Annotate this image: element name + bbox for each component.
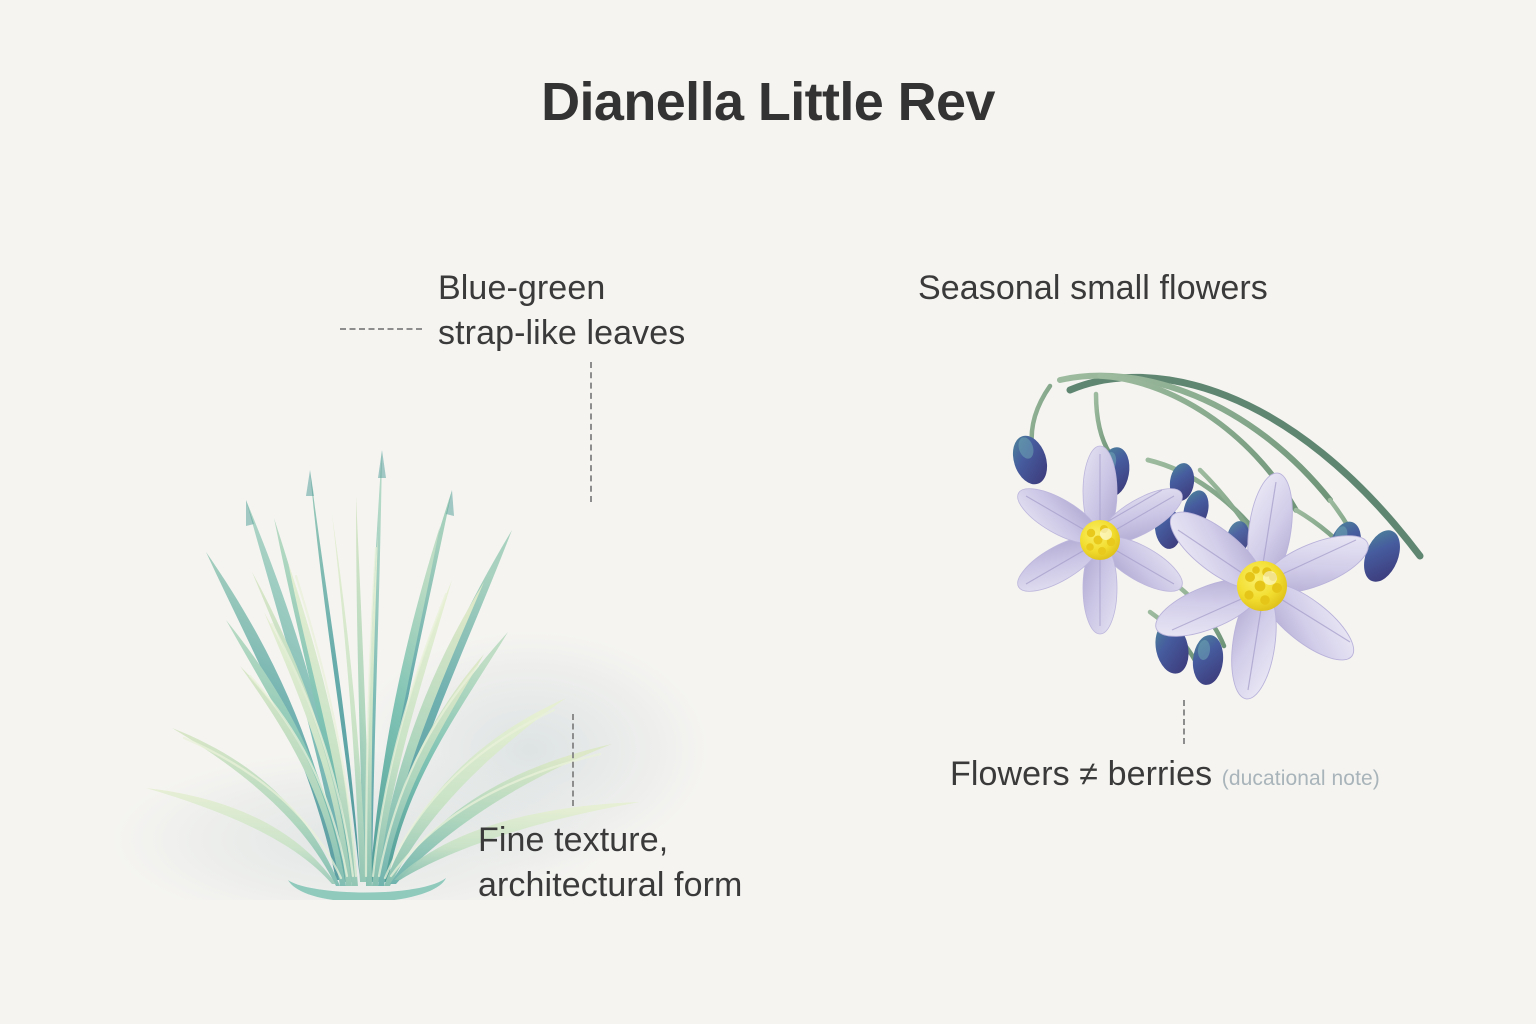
callout-texture: Fine texture, architectural form — [478, 818, 742, 908]
foliage-illustration — [60, 320, 760, 900]
callout-flowers: Seasonal small flowers — [918, 266, 1268, 311]
leader-line-berries — [1183, 700, 1185, 744]
flower-illustration — [1000, 350, 1470, 730]
leader-line-leaves-horizontal — [340, 328, 422, 330]
callout-berries: Flowers ≠ berries (ducational note) — [950, 752, 1380, 797]
page-title: Dianella Little Rev — [0, 74, 1536, 131]
leader-line-leaves-vertical — [590, 362, 592, 502]
callout-berries-note: (ducational note) — [1222, 767, 1380, 790]
infographic-canvas: Dianella Little Rev — [0, 0, 1536, 1024]
callout-berries-main: Flowers ≠ berries — [950, 755, 1212, 793]
leader-line-texture — [572, 714, 574, 806]
callout-leaves: Blue-green strap-like leaves — [438, 266, 685, 356]
